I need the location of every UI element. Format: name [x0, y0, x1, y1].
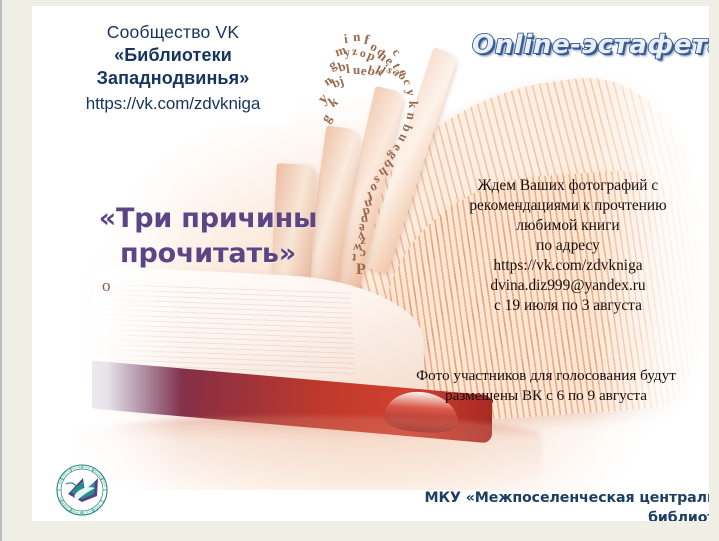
- poster-canvas: infoqmyzophetecgbluebkjsaocnbjykgyknbueg…: [32, 6, 709, 521]
- organization-name: МКУ «Межпоселенческая центральная библио…: [362, 488, 709, 521]
- voting-schedule-text: Фото участников для голосования будут ра…: [388, 366, 704, 406]
- vk-community-url[interactable]: https://vk.com/zdvkniga: [86, 94, 260, 114]
- vk-community-box: Сообщество VK «Библиотеки Западнодвинья»…: [50, 12, 296, 124]
- question-mark-dot: o: [102, 276, 111, 296]
- poster-headline: «Три причины прочитать»: [58, 202, 358, 271]
- left-edge-line: [0, 0, 2, 541]
- vk-community-label: Сообщество VK: [107, 22, 239, 43]
- library-emblem: МЕЖПОСЕЛЕНЧЕСКАЯ БИБЛИОТЕКА ЗАПАДНОДВИНС…: [50, 458, 114, 521]
- poster-slide: infoqmyzophetecgbluebkjsaocnbjykgyknbueg…: [0, 0, 719, 541]
- submission-instructions: Ждем Ваших фотографий с рекомендациями к…: [446, 176, 690, 316]
- vk-community-name-line2: Западнодвинья»: [97, 68, 250, 89]
- vk-community-name-line1: «Библиотеки: [114, 45, 232, 66]
- poster-wordart-title: Online-эстафета: [472, 30, 709, 60]
